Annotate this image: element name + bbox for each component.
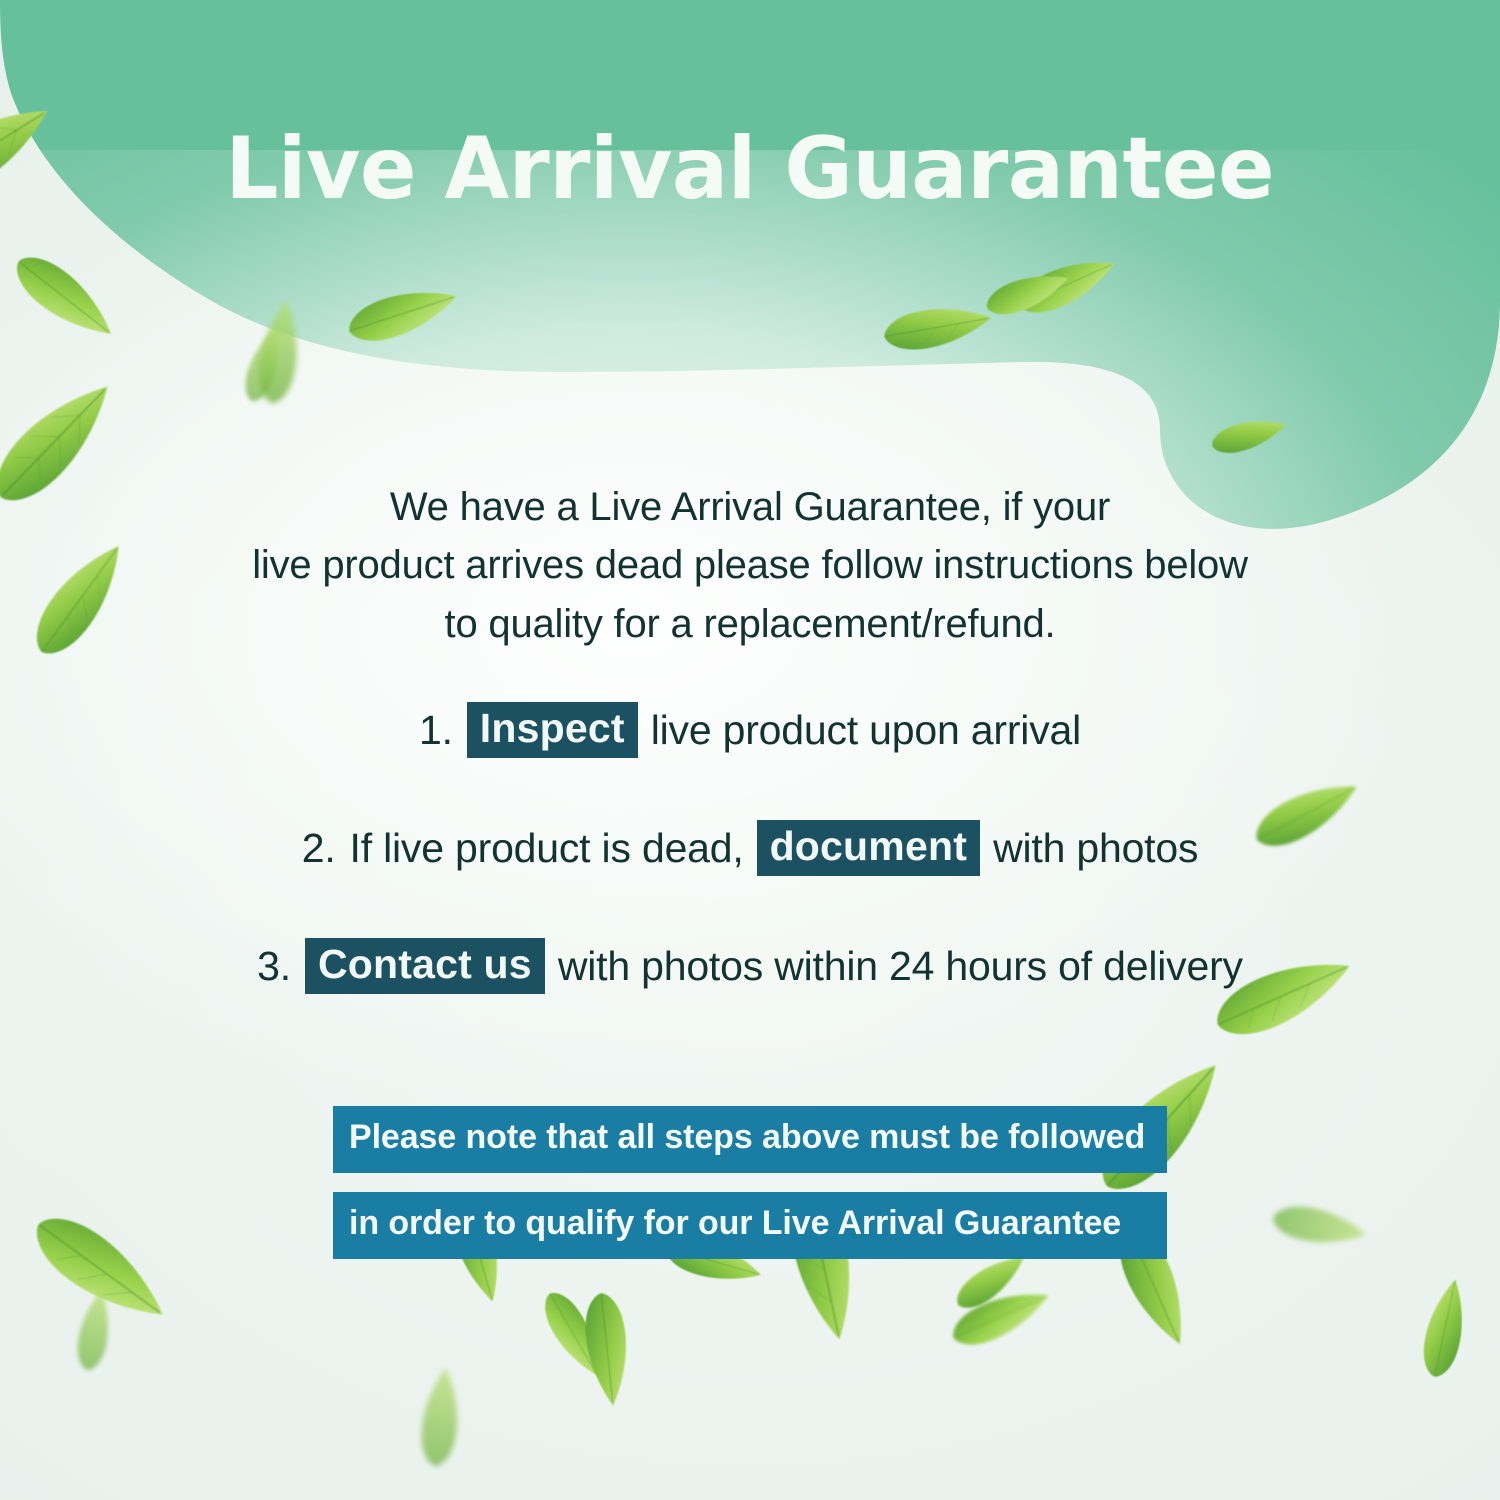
intro-paragraph: We have a Live Arrival Guarantee, if you… bbox=[120, 478, 1380, 653]
page-title: Live Arrival Guarantee bbox=[226, 126, 1275, 212]
intro-line-2: live product arrives dead please follow … bbox=[120, 536, 1380, 594]
note-line-2: in order to qualify for our Live Arrival… bbox=[333, 1192, 1167, 1259]
step-text: live product upon arrival bbox=[651, 707, 1081, 754]
step-number: 1. bbox=[419, 707, 453, 754]
step-number: 2. bbox=[302, 825, 336, 872]
intro-line-3: to quality for a replacement/refund. bbox=[120, 595, 1380, 653]
step-item-2: 2. If live product is dead, document wit… bbox=[0, 820, 1500, 876]
live-arrival-guarantee-poster: Live Arrival Guarantee We have a Live Ar… bbox=[0, 0, 1500, 1500]
steps-list: 1. Inspect live product upon arrival 2. … bbox=[0, 702, 1500, 994]
step-keyword-document: document bbox=[757, 820, 981, 876]
page-title-wrapper: Live Arrival Guarantee bbox=[0, 68, 1500, 269]
step-text: with photos within 24 hours of delivery bbox=[558, 943, 1243, 990]
step-item-3: 3. Contact us with photos within 24 hour… bbox=[0, 938, 1500, 994]
step-item-1: 1. Inspect live product upon arrival bbox=[0, 702, 1500, 758]
note-line-1: Please note that all steps above must be… bbox=[333, 1106, 1167, 1173]
step-keyword-inspect: Inspect bbox=[467, 702, 638, 758]
step-number: 3. bbox=[257, 943, 291, 990]
step-text: with photos bbox=[993, 825, 1198, 872]
intro-line-1: We have a Live Arrival Guarantee, if you… bbox=[120, 478, 1380, 536]
step-keyword-contact-us: Contact us bbox=[305, 938, 545, 994]
step-text-before: If live product is dead, bbox=[350, 825, 744, 872]
note-block: Please note that all steps above must be… bbox=[0, 1106, 1500, 1278]
